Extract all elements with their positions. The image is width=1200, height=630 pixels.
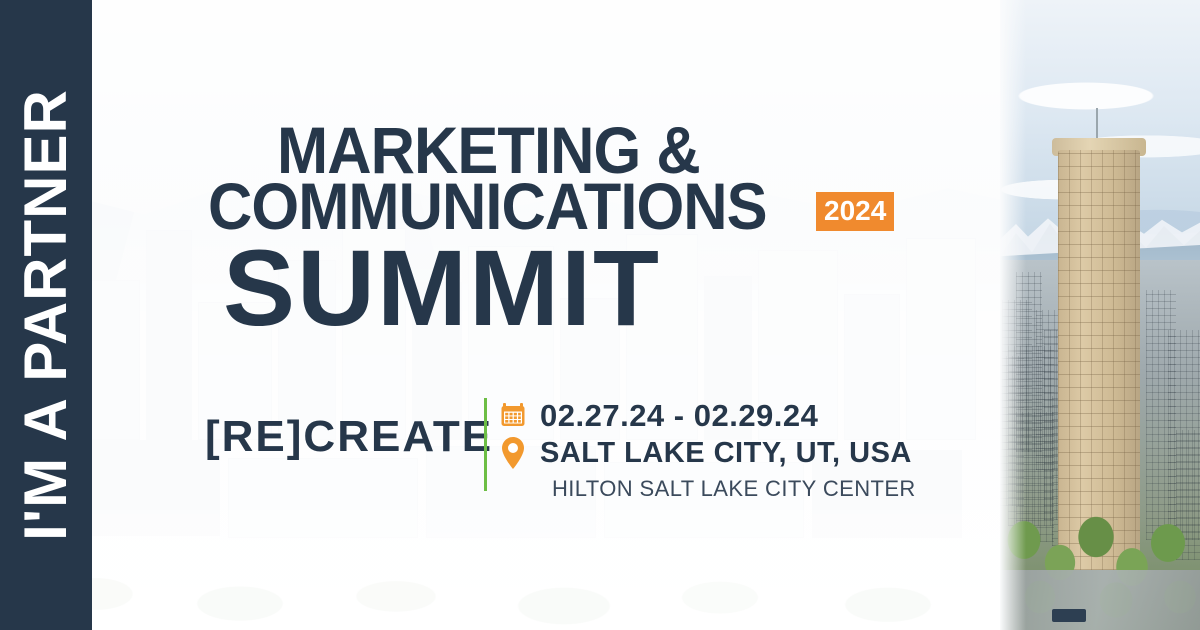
event-date: 02.27.24 - 02.29.24 [540, 400, 818, 431]
partner-ribbon: I'M A PARTNER [0, 0, 92, 630]
theme-label: [RE]CREATE [205, 415, 493, 459]
location-row: SALT LAKE CITY, UT, USA [500, 434, 970, 472]
banner-content: MARKETING & COMMUNICATIONS 2024 SUMMIT [… [0, 0, 1200, 630]
event-banner: I'M A PARTNER MARKETING & COMMUNICATIONS… [0, 0, 1200, 630]
event-city: SALT LAKE CITY, UT, USA [540, 439, 912, 468]
map-pin-icon [500, 436, 540, 470]
year-badge: 2024 [816, 192, 894, 231]
partner-ribbon-label: I'M A PARTNER [16, 89, 76, 541]
vertical-divider [484, 398, 487, 491]
date-row: 02.27.24 - 02.29.24 [500, 396, 970, 434]
calendar-icon [500, 402, 540, 428]
event-venue: HILTON SALT LAKE CITY CENTER [552, 478, 916, 500]
event-details: 02.27.24 - 02.29.24 SALT LAKE CITY, UT, … [500, 396, 970, 472]
title-line-3: SUMMIT [223, 234, 661, 342]
